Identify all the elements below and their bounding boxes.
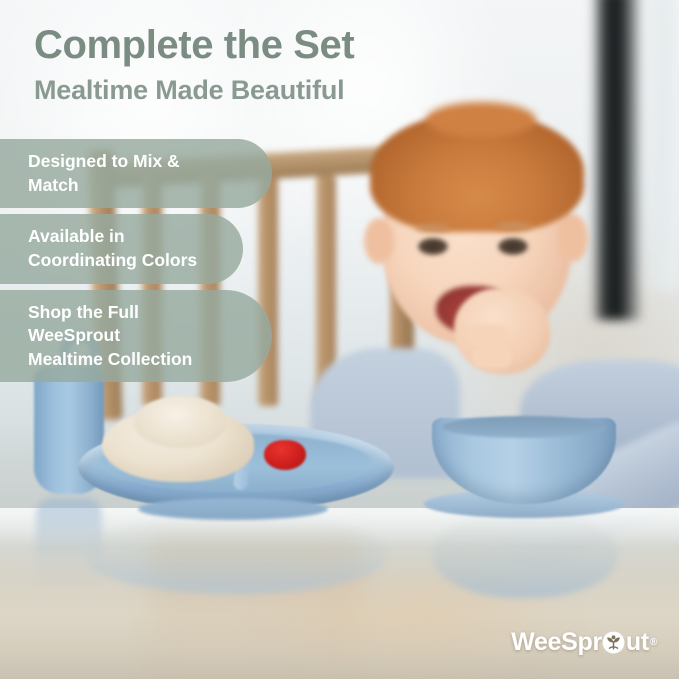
raspberry: [264, 440, 306, 470]
feature-pill: Designed to Mix & Match: [0, 139, 272, 208]
brand-name-part2: ut: [626, 628, 649, 657]
feature-pill: Shop the Full WeeSproutMealtime Collecti…: [0, 290, 272, 383]
brand-name-part1: WeeSpr: [511, 628, 602, 657]
feature-pill-label: Designed to Mix & Match: [28, 151, 180, 195]
headline-block: Complete the Set Mealtime Made Beautiful: [34, 24, 354, 106]
brand-logo: WeeSpr ut ®: [511, 628, 657, 657]
feature-pill-list: Designed to Mix & Match Available inCoor…: [0, 139, 679, 388]
suction-bowl: [424, 418, 624, 526]
feature-pill: Available inCoordinating Colors: [0, 214, 243, 283]
page-subtitle: Mealtime Made Beautiful: [34, 76, 354, 106]
food-oatmeal-top: [134, 396, 226, 448]
divided-plate: [78, 424, 394, 520]
plate-suction-base: [138, 498, 328, 520]
feature-pill-label: Available inCoordinating Colors: [28, 226, 197, 270]
hair-tuft: [426, 102, 536, 138]
registered-trademark: ®: [650, 637, 657, 648]
plate-reflection: [86, 516, 386, 594]
sprout-icon: [602, 631, 625, 654]
feature-pill-label: Shop the Full WeeSproutMealtime Collecti…: [28, 302, 192, 369]
bowl-interior: [442, 416, 606, 438]
product-marketing-image: Complete the Set Mealtime Made Beautiful…: [0, 0, 679, 679]
page-title: Complete the Set: [34, 24, 354, 67]
